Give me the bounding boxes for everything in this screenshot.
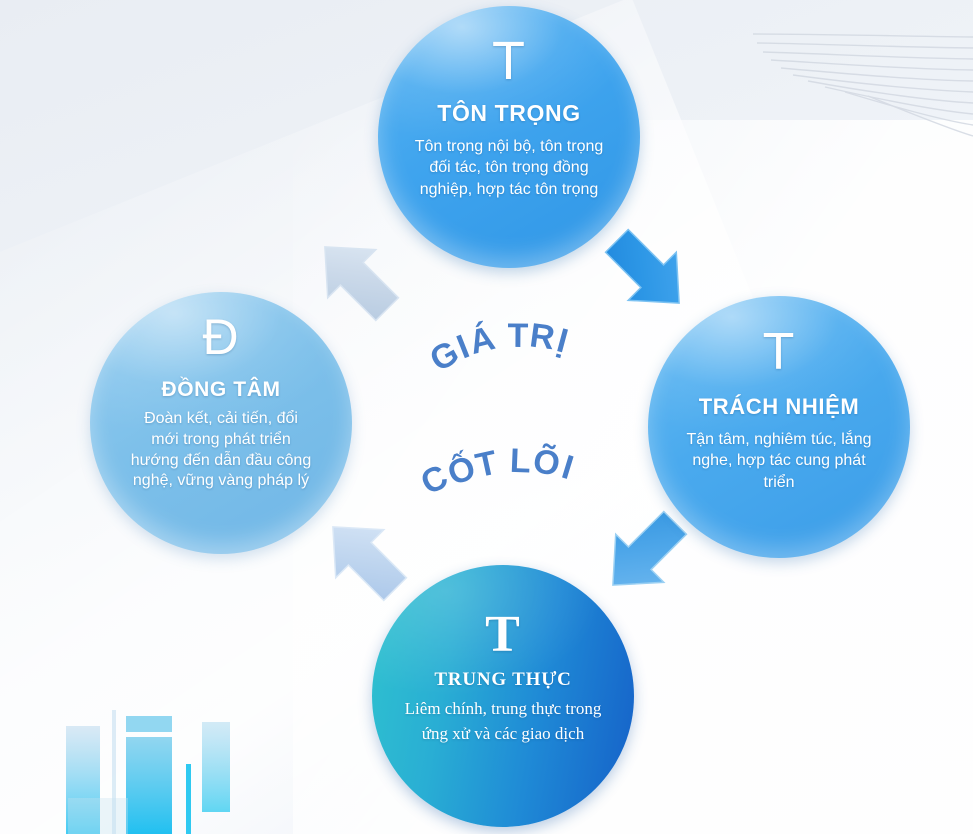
- value-letter-trach-nhiem: T: [763, 326, 796, 378]
- value-description-trach-nhiem: Tận tâm, nghiêm túc, lắng nghe, hợp tác …: [682, 429, 877, 493]
- value-circle-ton-trong[interactable]: T TÔN TRỌNG Tôn trọng nội bộ, tôn trọng …: [378, 6, 640, 268]
- center-label-char: Ị: [553, 321, 574, 362]
- center-label-char: Õ: [530, 442, 565, 485]
- center-label-line1: GIÁ TRỊ: [383, 316, 616, 383]
- value-circle-dong-tam[interactable]: Đ ĐỒNG TÂM Đoàn kết, cải tiến, đổi mới t…: [90, 292, 352, 554]
- arrow-top-to-right: [600, 222, 696, 322]
- arrow-left-to-top: [308, 228, 404, 328]
- center-label-char: I: [452, 327, 477, 367]
- value-letter-trung-thuc: T: [485, 609, 521, 661]
- center-label-char: [493, 317, 509, 357]
- center-label-char: Á: [465, 319, 500, 363]
- value-description-ton-trong: Tôn trọng nội bộ, tôn trọng đối tác, tôn…: [409, 136, 609, 200]
- arrow-right-to-bottom: [596, 504, 692, 604]
- center-label-char: I: [557, 448, 579, 489]
- values-diagram-canvas: T TÔN TRỌNG Tôn trọng nội bộ, tôn trọng …: [0, 0, 973, 834]
- value-title-trach-nhiem: TRÁCH NHIỆM: [699, 394, 860, 420]
- value-title-ton-trong: TÔN TRỌNG: [437, 100, 580, 127]
- center-label-line2: CỐT LÕI: [382, 445, 615, 504]
- curved-lines-decoration: [713, 0, 973, 150]
- bar-chart-decoration: [58, 694, 258, 834]
- arrow-bottom-to-left: [316, 508, 412, 608]
- center-label-char: T: [507, 317, 530, 356]
- center-label-char: L: [509, 442, 533, 482]
- value-circle-trung-thuc[interactable]: T TRUNG THỰC Liêm chính, trung thực tron…: [372, 565, 634, 827]
- center-label-char: G: [423, 332, 467, 380]
- value-title-trung-thuc: TRUNG THỰC: [434, 669, 571, 691]
- value-title-dong-tam: ĐỒNG TÂM: [161, 378, 280, 402]
- value-description-trung-thuc: Liêm chính, trung thực trong ứng xử và c…: [398, 697, 608, 746]
- value-circle-trach-nhiem[interactable]: T TRÁCH NHIỆM Tận tâm, nghiêm túc, lắng …: [648, 296, 910, 558]
- center-label-char: R: [528, 316, 560, 358]
- value-letter-ton-trong: T: [492, 34, 526, 88]
- center-label-char: T: [472, 443, 503, 486]
- center-label-char: [497, 442, 512, 482]
- center-label-char: C: [415, 457, 456, 504]
- value-description-dong-tam: Đoàn kết, cải tiến, đổi mới trong phát t…: [129, 409, 314, 492]
- value-letter-dong-tam: Đ: [202, 312, 239, 362]
- center-label-char: Ố: [442, 448, 482, 494]
